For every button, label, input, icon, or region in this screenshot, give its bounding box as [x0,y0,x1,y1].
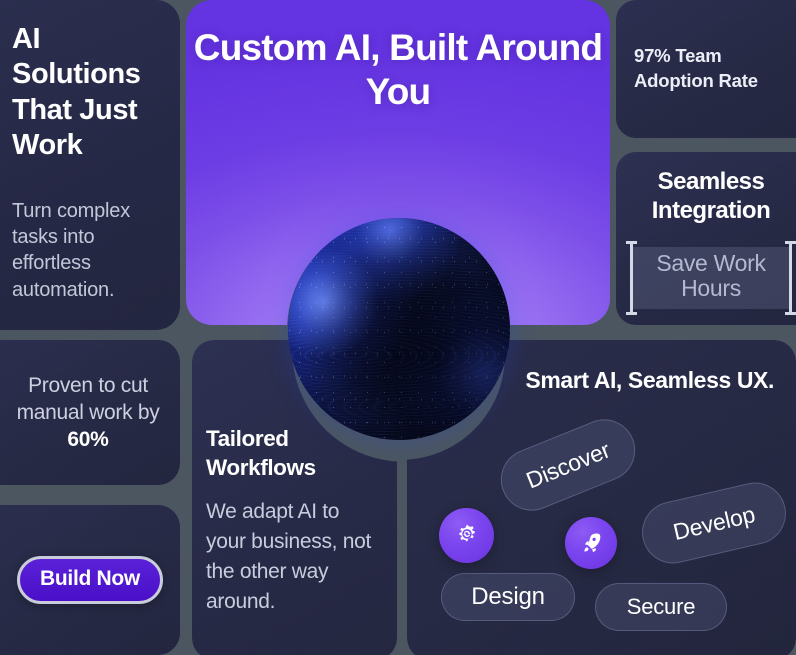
card-adoption-stat: 97% Team Adoption Rate [616,0,796,138]
tag-discover[interactable]: Discover [491,410,644,520]
tailored-body: We adapt AI to your business, not the ot… [206,497,381,617]
selection-handle-right-icon[interactable] [789,241,792,316]
bento-grid-page: AI Solutions That Just Work Turn complex… [0,0,796,655]
gear-sync-icon [454,523,480,549]
integration-title: Seamless Integration [630,168,792,226]
tailored-heading: Tailored Workflows [206,425,381,483]
ai-solutions-heading: AI Solutions That Just Work [12,22,166,164]
proven-stat-text: Proven to cut manual work by 60% [10,372,166,454]
smart-ai-title: Smart AI, Seamless UX. [525,366,774,395]
gear-sync-badge[interactable] [439,508,494,563]
tag-develop[interactable]: Develop [636,476,792,569]
hero-title: Custom AI, Built Around You [186,0,610,113]
build-now-button[interactable]: Build Now [17,556,163,604]
tag-design[interactable]: Design [441,573,575,621]
proven-stat-highlight: 60% [67,428,108,451]
proven-stat-lead: Proven to cut manual work by [17,374,160,424]
selection-text: Save Work Hours [644,251,778,303]
card-seamless-integration: Seamless Integration Save Work Hours [616,152,796,325]
sphere-shadow [288,218,510,440]
ai-solutions-body: Turn complex tasks into effortless autom… [12,198,166,304]
rocket-badge[interactable] [565,517,617,569]
rocket-icon [579,531,603,555]
card-ai-solutions: AI Solutions That Just Work Turn complex… [0,0,180,330]
card-cta: Build Now [0,505,180,655]
adoption-stat-text: 97% Team Adoption Rate [634,44,790,94]
selection-handle-left-icon[interactable] [630,241,633,316]
card-proven-stat: Proven to cut manual work by 60% [0,340,180,485]
text-selection-highlight[interactable]: Save Work Hours [632,247,790,310]
ai-sphere-graphic [288,218,510,440]
tag-secure[interactable]: Secure [595,583,727,631]
